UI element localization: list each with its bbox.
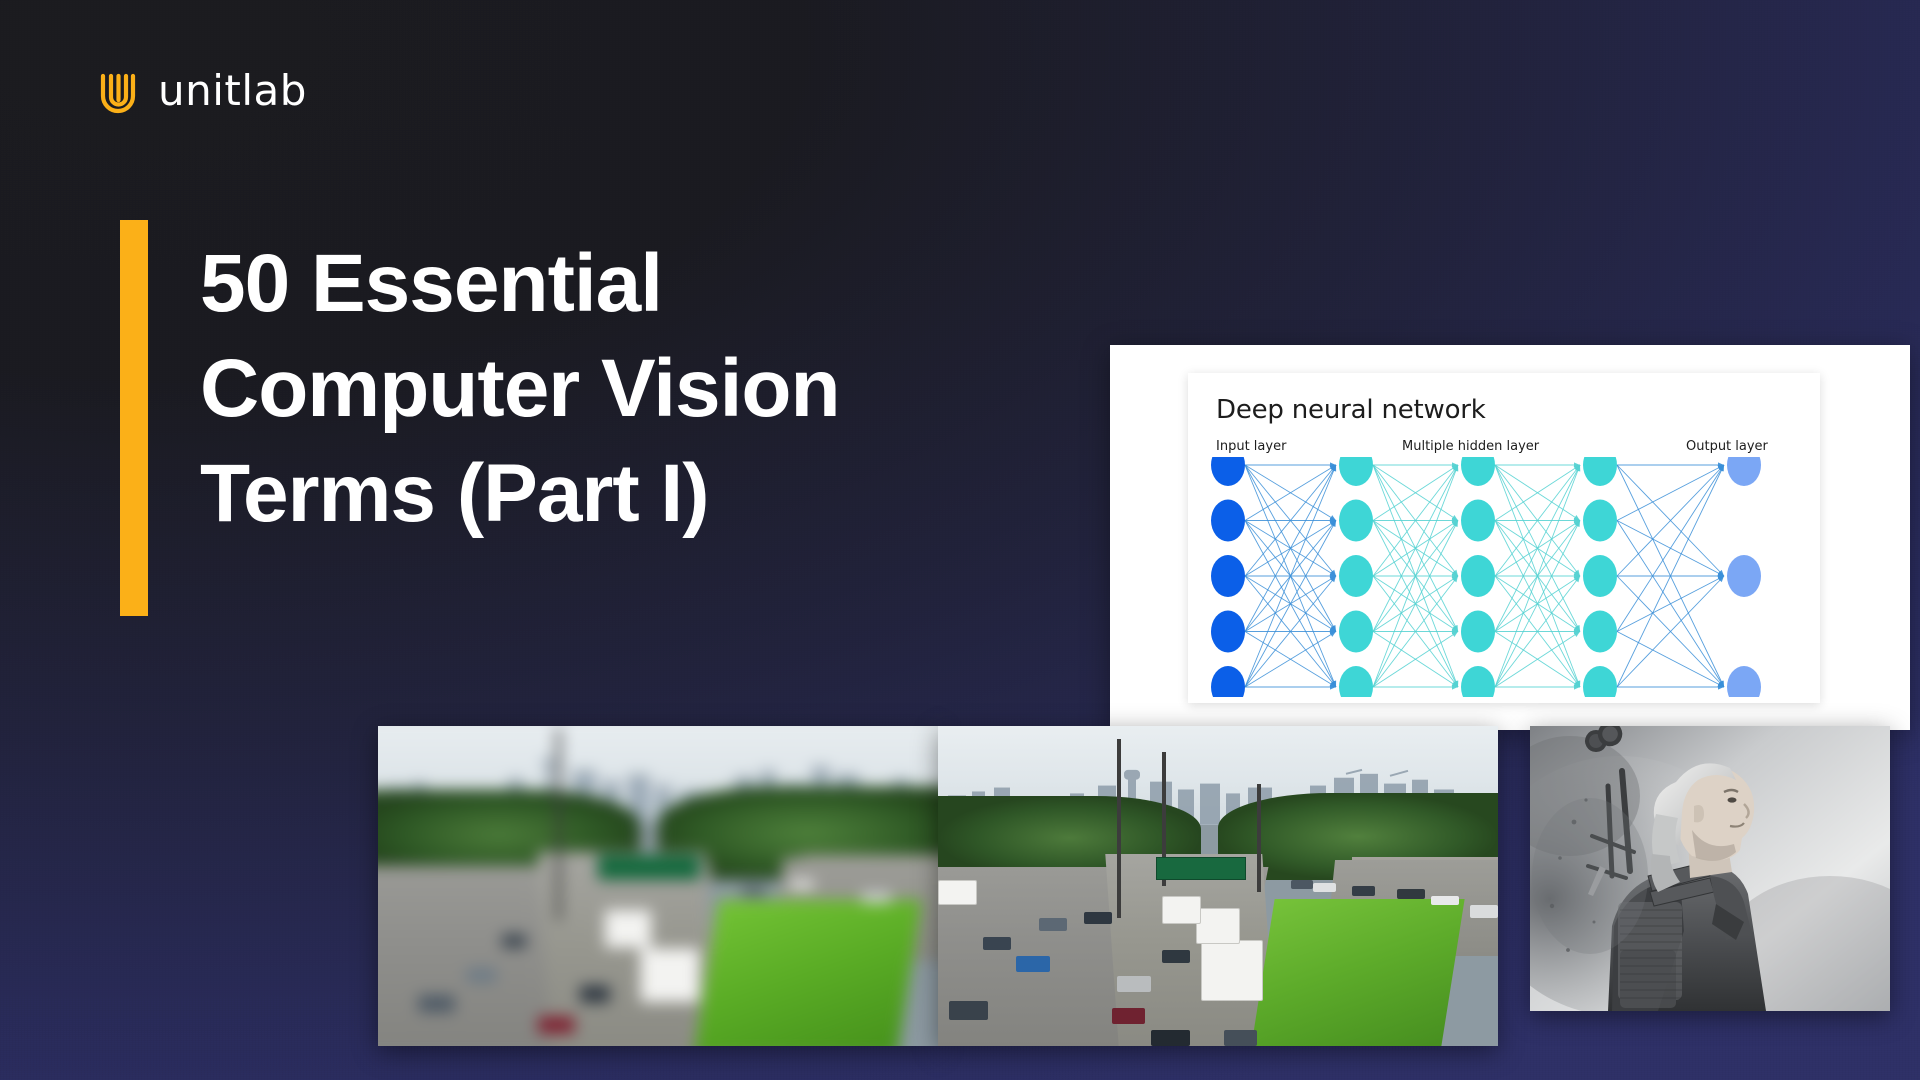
nn-node bbox=[1211, 457, 1245, 486]
car bbox=[983, 937, 1011, 950]
car bbox=[1431, 896, 1459, 906]
grass-verge bbox=[1251, 899, 1465, 1046]
car bbox=[1117, 976, 1151, 992]
highway-sign bbox=[1156, 857, 1246, 879]
headline-accent-bar bbox=[120, 220, 148, 616]
car bbox=[1291, 880, 1313, 890]
car bbox=[580, 985, 610, 1002]
truck bbox=[1196, 908, 1241, 943]
nn-node bbox=[1583, 500, 1617, 542]
nn-label-hidden-layer: Multiple hidden layer bbox=[1402, 439, 1539, 454]
car bbox=[1224, 1030, 1258, 1046]
headline-line-3: Terms (Part I) bbox=[200, 442, 1080, 547]
light-pole bbox=[1257, 784, 1261, 893]
truck bbox=[938, 880, 977, 906]
nn-node bbox=[1211, 500, 1245, 542]
nn-node bbox=[1727, 555, 1761, 597]
photo-highway-blurred bbox=[378, 726, 938, 1046]
nn-node bbox=[1461, 666, 1495, 697]
car bbox=[1162, 950, 1190, 963]
nn-node bbox=[1727, 457, 1761, 486]
nn-node bbox=[1583, 457, 1617, 486]
car bbox=[1084, 912, 1112, 925]
neural-network-card: Deep neural network Input layer Multiple… bbox=[1110, 345, 1910, 730]
truck bbox=[640, 948, 700, 1003]
grass-verge bbox=[693, 900, 922, 1046]
unitlab-loop-icon bbox=[96, 68, 140, 114]
nn-node bbox=[1211, 666, 1245, 697]
truck bbox=[1201, 940, 1263, 1001]
car bbox=[538, 1016, 574, 1033]
nn-node bbox=[1339, 611, 1373, 653]
car bbox=[949, 1001, 988, 1020]
nn-node bbox=[1727, 666, 1761, 697]
neural-network-figure: Deep neural network Input layer Multiple… bbox=[1188, 373, 1820, 703]
nn-node bbox=[1339, 555, 1373, 597]
headline-line-1: 50 Essential bbox=[200, 232, 1080, 337]
car bbox=[1352, 886, 1374, 896]
light-pole bbox=[556, 728, 560, 920]
car bbox=[1112, 1008, 1146, 1024]
nn-node bbox=[1461, 500, 1495, 542]
nn-label-input-layer: Input layer bbox=[1216, 439, 1286, 454]
highway-scene-blurred bbox=[378, 726, 938, 1046]
brand-logo[interactable]: unitlab bbox=[96, 68, 307, 114]
car bbox=[862, 893, 892, 903]
brand-wordmark: unitlab bbox=[158, 70, 307, 112]
car bbox=[790, 879, 814, 889]
witcher-illustration bbox=[1530, 726, 1890, 1011]
nn-node bbox=[1461, 611, 1495, 653]
nn-node bbox=[1461, 457, 1495, 486]
nn-node bbox=[1583, 555, 1617, 597]
car bbox=[466, 968, 496, 982]
nn-node bbox=[1211, 555, 1245, 597]
highway-scene-sharp bbox=[938, 726, 1498, 1046]
nn-node bbox=[1339, 666, 1373, 697]
light-pole bbox=[1117, 739, 1121, 918]
highway-sign bbox=[598, 855, 700, 879]
nn-node bbox=[1339, 457, 1373, 486]
car bbox=[1151, 1030, 1190, 1046]
car bbox=[502, 934, 526, 948]
neural-network-title: Deep neural network bbox=[1216, 395, 1486, 425]
photo-highway-sharp bbox=[938, 726, 1498, 1046]
car bbox=[1016, 956, 1050, 972]
headline-line-2: Computer Vision bbox=[200, 337, 1080, 442]
neural-network-graph bbox=[1188, 457, 1820, 697]
banner-canvas: unitlab 50 Essential Computer Vision Ter… bbox=[0, 0, 1920, 1080]
truck bbox=[604, 910, 652, 948]
nn-node bbox=[1461, 555, 1495, 597]
page-title: 50 Essential Computer Vision Terms (Part… bbox=[200, 232, 1080, 547]
car bbox=[1313, 883, 1335, 893]
car bbox=[742, 886, 766, 896]
nn-node bbox=[1583, 611, 1617, 653]
car bbox=[1039, 918, 1067, 931]
nn-label-output-layer: Output layer bbox=[1686, 439, 1768, 454]
nn-node bbox=[1339, 500, 1373, 542]
car bbox=[1397, 889, 1425, 899]
car bbox=[418, 996, 454, 1013]
car bbox=[1470, 905, 1498, 918]
truck bbox=[1162, 896, 1201, 925]
nn-node bbox=[1583, 666, 1617, 697]
nn-node bbox=[1211, 611, 1245, 653]
photo-witcher-portrait bbox=[1530, 726, 1890, 1011]
